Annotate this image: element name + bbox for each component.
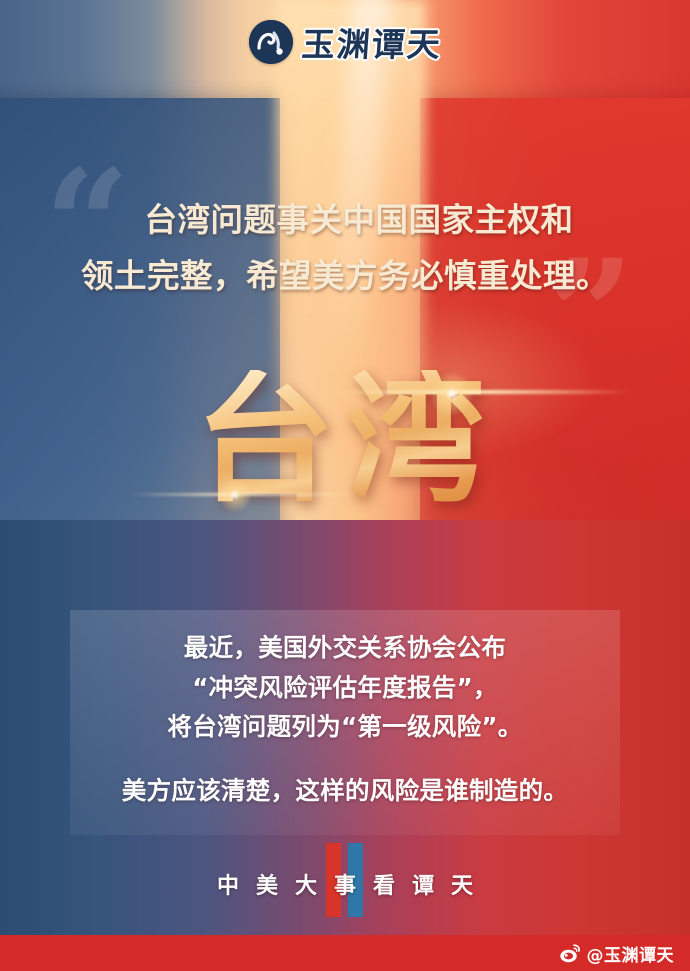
- body-line-3: 将台湾问题列为“第一级风险”。: [0, 707, 690, 747]
- weibo-footer-bar: @玉渊谭天: [0, 935, 690, 971]
- weibo-handle: @玉渊谭天: [587, 941, 675, 966]
- tagline-text: 中美大事看谭天: [0, 868, 690, 900]
- yuyuan-tantian-circle-icon: [249, 20, 293, 64]
- headline-quote-line-1: 台湾问题事关中国国家主权和: [0, 193, 690, 249]
- poster-root: 玉渊谭天 “ ” 台湾问题事关中国国家主权和 领土完整，希望美方务必慎重处理。 …: [0, 0, 690, 971]
- hero-title: 台湾: [195, 370, 495, 510]
- hero-title-wrap: 台湾: [0, 355, 690, 525]
- body-final-line: 美方应该清楚，这样的风险是谁制造的。: [0, 772, 690, 807]
- weibo-icon: [559, 942, 581, 964]
- headline-quote-line-2: 领土完整，希望美方务必慎重处理。: [0, 249, 690, 305]
- brand-logo: 玉渊谭天: [0, 18, 690, 66]
- body-line-1: 最近，美国外交关系协会公布: [0, 628, 690, 668]
- headline-quote: 台湾问题事关中国国家主权和 领土完整，希望美方务必慎重处理。: [0, 193, 690, 305]
- brand-logo-text: 玉渊谭天: [300, 18, 443, 66]
- body-paragraph: 最近，美国外交关系协会公布 “冲突风险评估年度报告”， 将台湾问题列为“第一级风…: [0, 628, 690, 747]
- body-line-2: “冲突风险评估年度报告”，: [0, 668, 690, 708]
